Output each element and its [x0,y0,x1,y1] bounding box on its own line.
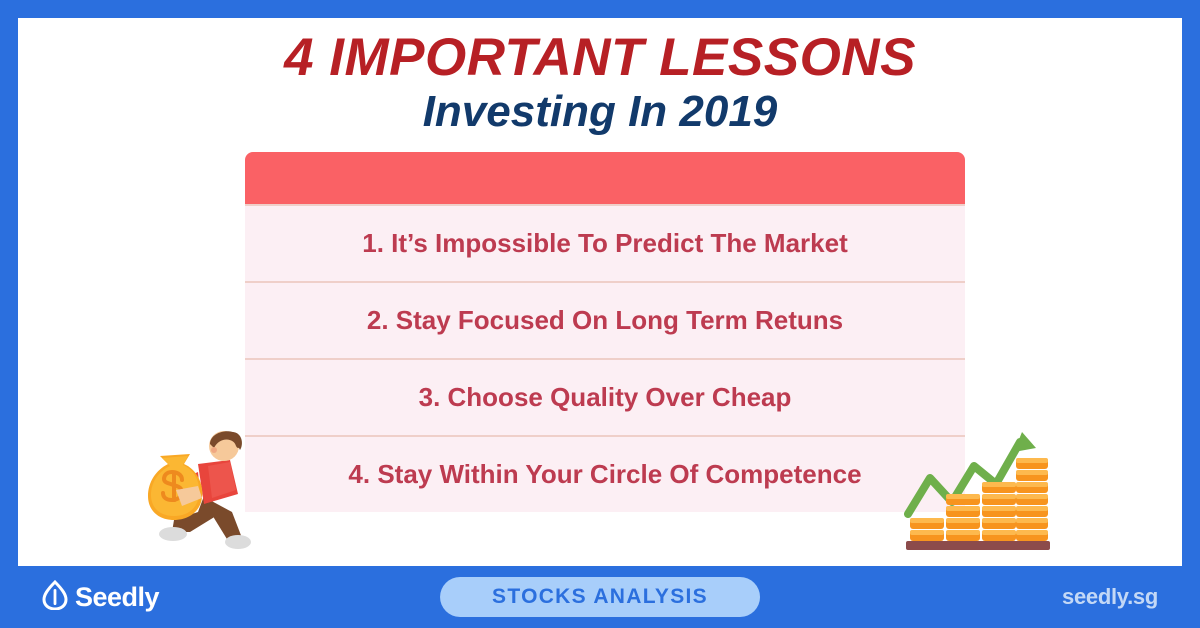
category-badge-label: STOCKS ANALYSIS [492,585,708,608]
man-carrying-money-bag-illustration [146,420,296,556]
lesson-text: 3. Choose Quality Over Cheap [419,382,792,413]
page-title: 4 IMPORTANT LESSONS [18,30,1182,86]
page-subtitle: Investing In 2019 [18,88,1182,136]
footer-bar: Seedly STOCKS ANALYSIS seedly.sg [0,566,1200,628]
lessons-card-header [245,152,965,204]
lesson-text: 2. Stay Focused On Long Term Retuns [367,305,843,336]
inner-white-panel: 4 IMPORTANT LESSONS Investing In 2019 1.… [18,18,1182,566]
list-item: 3. Choose Quality Over Cheap [245,358,965,435]
lesson-text: 1. It’s Impossible To Predict The Market [362,228,847,259]
list-item: 2. Stay Focused On Long Term Retuns [245,281,965,358]
category-badge[interactable]: STOCKS ANALYSIS [440,577,760,617]
list-item: 1. It’s Impossible To Predict The Market [245,204,965,281]
seedly-logo-text: Seedly [75,582,159,613]
coin-stacks-growth-illustration [904,422,1050,556]
seedly-logo[interactable]: Seedly [42,580,159,615]
infographic-canvas: 4 IMPORTANT LESSONS Investing In 2019 1.… [0,0,1200,628]
seed-droplet-icon [42,580,68,615]
list-item: 4. Stay Within Your Circle Of Competence [245,435,965,512]
lessons-card: 1. It’s Impossible To Predict The Market… [245,152,965,512]
lesson-text: 4. Stay Within Your Circle Of Competence [348,459,861,490]
website-url[interactable]: seedly.sg [1062,584,1158,610]
title-block: 4 IMPORTANT LESSONS Investing In 2019 [18,30,1182,135]
